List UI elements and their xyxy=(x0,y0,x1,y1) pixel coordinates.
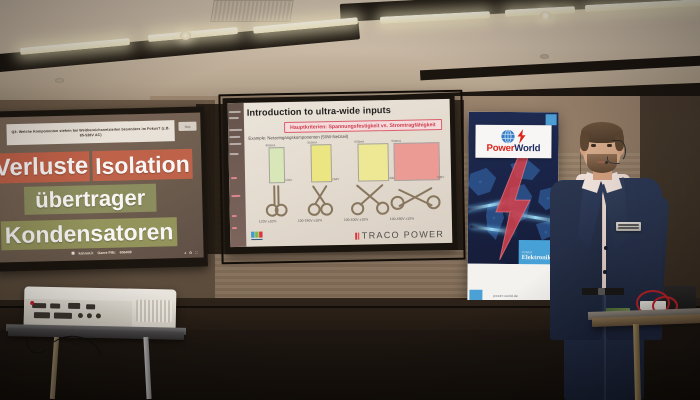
hair-side-left xyxy=(580,131,589,151)
spot-light xyxy=(540,11,551,20)
center-screen-frame xyxy=(218,90,465,265)
presenter xyxy=(540,118,668,400)
volume-icon[interactable]: ◂ xyxy=(184,251,186,255)
brand-power: Power xyxy=(486,143,514,154)
jacket-button xyxy=(603,270,607,274)
powerworld-wordmark: PowerWorld xyxy=(486,144,540,154)
port-audio xyxy=(96,313,101,318)
port-audio xyxy=(78,313,83,318)
headset-boom-icon xyxy=(607,156,620,164)
port-hdmi xyxy=(32,303,46,308)
recessed-light-icon xyxy=(540,54,549,59)
gear-icon[interactable]: ✿ xyxy=(189,251,192,255)
jacket-button xyxy=(604,246,608,250)
kahoot-answer-word: übertrager xyxy=(24,184,157,215)
kahoot-answer-word: Isolation xyxy=(92,149,193,181)
kahoot-pin: 606408 xyxy=(120,250,132,254)
port-serial xyxy=(54,312,72,318)
spot-light xyxy=(180,31,191,40)
kahoot-skip-button[interactable]: Skip xyxy=(178,122,196,131)
kahoot-status-icons: ◂ ✿ ⛶ xyxy=(184,251,197,255)
ceiling-vent xyxy=(210,0,293,22)
eye-left xyxy=(591,144,596,147)
brand-world: World xyxy=(514,143,540,154)
port-lan xyxy=(86,304,95,309)
kahoot-answer-word: Kondensatoren xyxy=(1,217,178,250)
banner-url: power-world.de xyxy=(493,294,518,298)
kahoot-question-text: Q3: Welche Komponenten stehen bei Weitbe… xyxy=(11,126,171,140)
presentation-room-photo: Q3: Welche Komponenten stehen bei Weitbe… xyxy=(0,0,700,400)
microphone-icon xyxy=(605,161,608,164)
projector-vent xyxy=(136,300,172,323)
recessed-light-icon xyxy=(55,78,64,83)
kahoot-answer-word: Verluste xyxy=(0,151,90,183)
left-projection-screen: Q3: Welche Komponenten stehen bei Weitbe… xyxy=(0,106,208,271)
port-audio xyxy=(87,313,92,318)
kahoot-slide: Q3: Welche Komponenten stehen bei Weitbe… xyxy=(0,113,204,263)
fullscreen-icon[interactable]: ⛶ xyxy=(195,251,198,255)
ceiling-beam xyxy=(420,54,700,81)
kahoot-question-box: Q3: Welche Komponenten stehen bei Weitbe… xyxy=(6,120,174,145)
name-badge xyxy=(616,222,641,231)
kahoot-logo-icon xyxy=(71,252,74,255)
kahoot-site: kahoot.it xyxy=(78,251,93,255)
status-led xyxy=(30,301,34,305)
kahoot-pin-label: Game PIN: xyxy=(97,250,115,254)
port-usb xyxy=(50,303,60,308)
port-vga xyxy=(68,303,80,309)
belt-buckle-icon xyxy=(598,288,605,295)
